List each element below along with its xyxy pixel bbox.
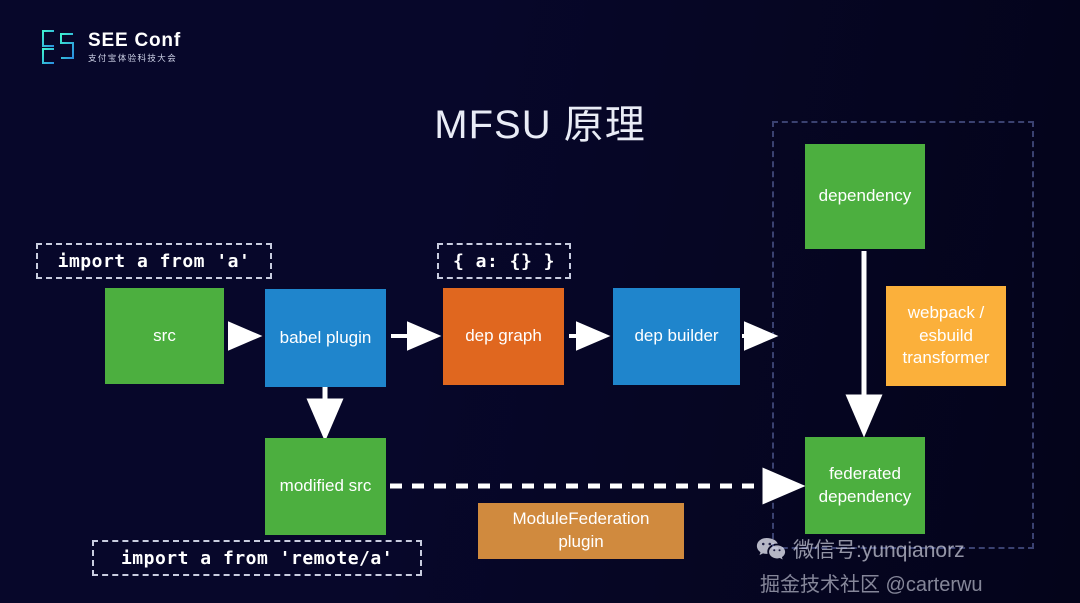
node-federated-dependency: federated dependency — [805, 437, 925, 534]
transformer-label-line1: webpack / — [908, 302, 985, 325]
transformer-label-line2: esbuild — [919, 325, 973, 348]
code-chip-dep-object-text: { a: {} } — [453, 251, 555, 272]
node-module-federation-plugin-label-line2: plugin — [558, 531, 603, 554]
see-conf-logo-text: SEE Conf 支付宝体验科技大会 — [88, 31, 181, 62]
node-babel-plugin: babel plugin — [265, 289, 386, 387]
node-webpack-esbuild-transformer: webpack / esbuild transformer — [886, 286, 1006, 386]
federated-dependency-label-line1: federated — [829, 463, 901, 486]
code-chip-import-a-text: import a from 'a' — [58, 251, 251, 272]
node-dep-graph-label: dep graph — [465, 325, 542, 348]
node-modified-src-label: modified src — [280, 475, 372, 498]
code-chip-import-remote: import a from 'remote/a' — [92, 540, 422, 576]
node-modified-src: modified src — [265, 438, 386, 535]
see-conf-logo: SEE Conf 支付宝体验科技大会 — [40, 28, 181, 66]
node-dep-builder-label: dep builder — [634, 325, 718, 348]
code-chip-import-remote-text: import a from 'remote/a' — [121, 548, 393, 569]
node-module-federation-plugin: ModuleFederation plugin — [478, 503, 684, 559]
slide-canvas: SEE Conf 支付宝体验科技大会 MFSU 原理 — [0, 0, 1080, 603]
code-chip-import-a: import a from 'a' — [36, 243, 272, 279]
node-module-federation-plugin-label-line1: ModuleFederation — [512, 508, 649, 531]
node-src: src — [105, 288, 224, 384]
node-dependency-label: dependency — [819, 185, 912, 208]
logo-title: SEE Conf — [88, 31, 181, 51]
node-dep-builder: dep builder — [613, 288, 740, 385]
page-title: MFSU 原理 — [0, 92, 1080, 150]
node-dep-graph: dep graph — [443, 288, 564, 385]
node-babel-plugin-label: babel plugin — [280, 327, 372, 350]
see-conf-logo-mark — [40, 28, 76, 66]
node-dependency: dependency — [805, 144, 925, 249]
node-src-label: src — [153, 325, 176, 348]
transformer-label-line3: transformer — [903, 347, 990, 370]
logo-subtitle: 支付宝体验科技大会 — [88, 54, 181, 63]
code-chip-dep-object: { a: {} } — [437, 243, 571, 279]
federated-dependency-label-line2: dependency — [819, 486, 912, 509]
